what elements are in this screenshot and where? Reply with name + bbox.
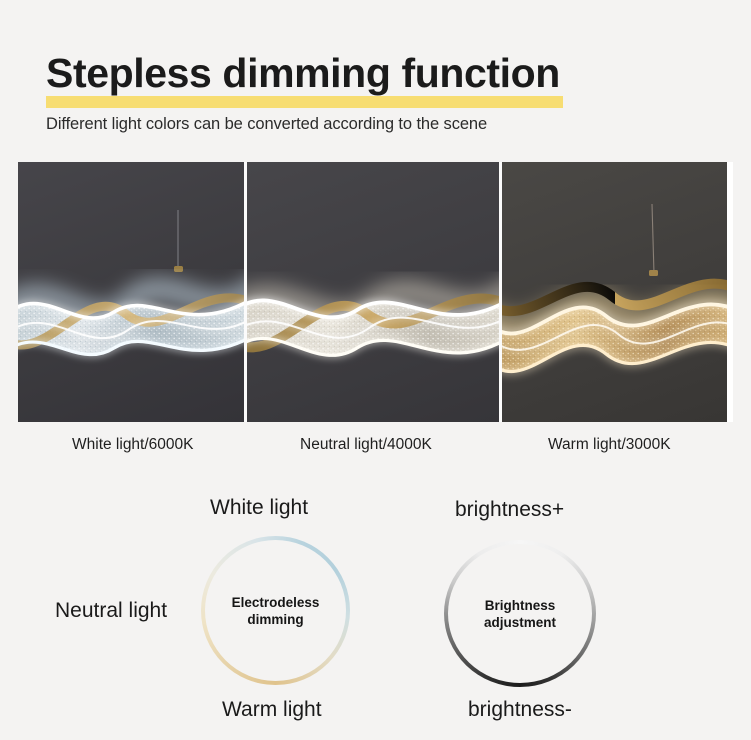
color-temperature-ring-label: Electrodeless dimming	[201, 536, 350, 685]
caption-neutral-light: Neutral light/4000K	[300, 436, 432, 454]
page-title: Stepless dimming function	[46, 50, 560, 96]
lamp-illustration-warm	[502, 162, 727, 422]
page-subtitle: Different light colors can be converted …	[46, 115, 487, 134]
lamp-illustration-neutral	[247, 162, 499, 422]
brightness-ring-label: Brightness adjustment	[444, 540, 596, 687]
color-temperature-ring: Electrodeless dimming	[201, 536, 350, 685]
brightness-ring: Brightness adjustment	[444, 540, 596, 687]
ring-label-line1: Electrodeless	[232, 595, 320, 610]
caption-white-light: White light/6000K	[72, 436, 194, 454]
lamp-photo-neutral-light	[244, 162, 502, 422]
label-brightness-decrease: brightness-	[468, 698, 572, 722]
product-feature-page: Stepless dimming function Different ligh…	[0, 0, 751, 740]
lamp-photo-strip	[18, 162, 733, 422]
label-neutral-light: Neutral light	[55, 599, 167, 623]
ring-label-line2: adjustment	[484, 615, 556, 630]
lamp-illustration-white	[18, 162, 244, 422]
ring-label-line2: dimming	[247, 612, 303, 627]
label-warm-light: Warm light	[222, 698, 322, 722]
label-white-light: White light	[210, 496, 308, 520]
lamp-photo-white-light	[18, 162, 244, 422]
label-brightness-increase: brightness+	[455, 498, 564, 522]
title-underline-bar	[46, 96, 563, 108]
caption-warm-light: Warm light/3000K	[548, 436, 671, 454]
ring-label-line1: Brightness	[485, 598, 556, 613]
lamp-photo-warm-light	[502, 162, 727, 422]
